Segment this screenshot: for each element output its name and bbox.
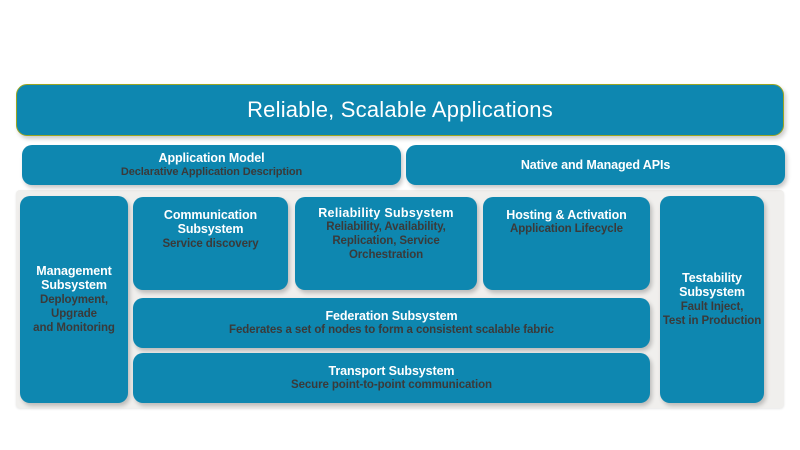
banner-reliable-scalable-applications[interactable]: Reliable, Scalable Applications xyxy=(16,84,784,136)
reliability-subtitle-line3: Orchestration xyxy=(349,249,423,262)
box-reliability-subsystem[interactable]: Reliability Subsystem Reliability, Avail… xyxy=(295,197,477,290)
reliability-subtitle-line2: Replication, Service xyxy=(332,235,439,248)
box-federation-subsystem[interactable]: Federation Subsystem Federates a set of … xyxy=(133,298,650,348)
reliability-title: Reliability Subsystem xyxy=(318,206,454,220)
application-model-subtitle: Declarative Application Description xyxy=(121,166,302,179)
federation-title: Federation Subsystem xyxy=(325,309,457,323)
box-management-subsystem[interactable]: Management Subsystem Deployment, Upgrade… xyxy=(20,196,128,403)
hosting-subtitle: Application Lifecycle xyxy=(510,223,623,236)
architecture-diagram: Reliable, Scalable Applications Applicat… xyxy=(0,0,800,450)
management-subtitle-line3: and Monitoring xyxy=(33,322,115,335)
box-testability-subsystem[interactable]: Testability Subsystem Fault Inject, Test… xyxy=(660,196,764,403)
testability-title-line2: Subsystem xyxy=(679,285,745,299)
testability-subtitle-line2: Test in Production xyxy=(663,315,761,328)
federation-subtitle: Federates a set of nodes to form a consi… xyxy=(229,324,554,337)
box-hosting-and-activation[interactable]: Hosting & Activation Application Lifecyc… xyxy=(483,197,650,290)
communication-subtitle: Service discovery xyxy=(162,238,258,251)
testability-title-line1: Testability xyxy=(682,271,742,285)
application-model-title: Application Model xyxy=(159,151,265,165)
box-native-and-managed-apis[interactable]: Native and Managed APIs xyxy=(406,145,785,185)
management-subtitle-line2: Upgrade xyxy=(51,308,97,321)
transport-title: Transport Subsystem xyxy=(329,364,455,378)
banner-title: Reliable, Scalable Applications xyxy=(247,97,553,122)
transport-subtitle: Secure point-to-point communication xyxy=(291,379,492,392)
communication-title-line2: Subsystem xyxy=(178,222,244,236)
management-title-line1: Management xyxy=(36,264,111,278)
box-communication-subsystem[interactable]: Communication Subsystem Service discover… xyxy=(133,197,288,290)
native-apis-title: Native and Managed APIs xyxy=(521,158,670,172)
management-title-line2: Subsystem xyxy=(41,278,107,292)
reliability-subtitle-line1: Reliability, Availability, xyxy=(326,221,445,234)
management-subtitle-line1: Deployment, xyxy=(40,294,108,307)
testability-subtitle-line1: Fault Inject, xyxy=(681,301,744,314)
box-transport-subsystem[interactable]: Transport Subsystem Secure point-to-poin… xyxy=(133,353,650,403)
box-application-model[interactable]: Application Model Declarative Applicatio… xyxy=(22,145,401,185)
hosting-title: Hosting & Activation xyxy=(506,208,626,222)
communication-title-line1: Communication xyxy=(164,208,257,222)
